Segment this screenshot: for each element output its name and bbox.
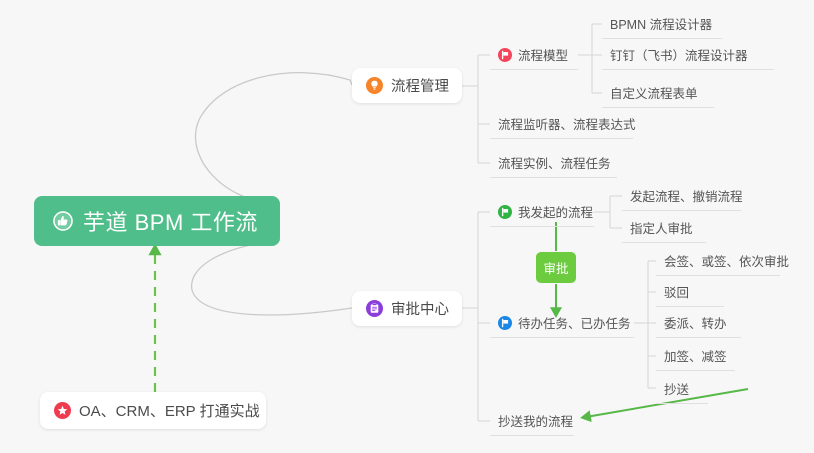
node-add-remove-sign-label: 加签、减签 — [664, 346, 727, 365]
thumbs-up-icon — [52, 210, 74, 232]
node-delegate-transfer-label: 委派、转办 — [664, 313, 727, 332]
clipboard-icon — [366, 300, 383, 317]
node-reject-label: 驳回 — [664, 282, 689, 301]
mindmap-canvas: 芋道 BPM 工作流 流程管理 流程模型 BPMN 流程设计器 钉钉（飞书）流程… — [0, 0, 814, 453]
flag-icon — [498, 205, 512, 219]
node-bpmn-designer-label: BPMN 流程设计器 — [610, 14, 712, 33]
flag-icon — [498, 48, 512, 62]
node-bpmn-designer[interactable]: BPMN 流程设计器 — [602, 9, 722, 39]
node-carbon-copy-label: 抄送 — [664, 379, 689, 398]
node-process-management-label: 流程管理 — [391, 75, 449, 96]
flag-icon — [498, 316, 512, 330]
node-designated-approver[interactable]: 指定人审批 — [622, 213, 706, 243]
node-dingtalk-designer-label: 钉钉（飞书）流程设计器 — [610, 45, 748, 64]
node-integration-note[interactable]: OA、CRM、ERP 打通实战 — [40, 392, 266, 429]
root-node[interactable]: 芋道 BPM 工作流 — [34, 196, 280, 246]
tag-approval-label: 审批 — [543, 258, 568, 277]
connector-root-to-process-management — [195, 73, 352, 205]
node-start-cancel-process[interactable]: 发起流程、撤销流程 — [622, 181, 741, 211]
node-reject[interactable]: 驳回 — [656, 277, 724, 307]
node-process-management[interactable]: 流程管理 — [352, 68, 462, 103]
root-label: 芋道 BPM 工作流 — [83, 205, 258, 237]
node-dingtalk-designer[interactable]: 钉钉（飞书）流程设计器 — [602, 40, 774, 70]
connector-root-to-approval-center — [192, 240, 352, 315]
node-add-remove-sign[interactable]: 加签、减签 — [656, 341, 735, 371]
node-process-model-label: 流程模型 — [518, 45, 568, 64]
node-integration-note-label: OA、CRM、ERP 打通实战 — [79, 400, 260, 421]
node-process-listener-label: 流程监听器、流程表达式 — [498, 114, 636, 133]
node-custom-form[interactable]: 自定义流程表单 — [602, 78, 714, 108]
node-custom-form-label: 自定义流程表单 — [610, 83, 698, 102]
tag-approval[interactable]: 审批 — [536, 252, 576, 283]
node-my-started-process[interactable]: 我发起的流程 — [490, 197, 594, 227]
node-todo-done-tasks-label: 待办任务、已办任务 — [518, 313, 631, 332]
node-process-instance-label: 流程实例、流程任务 — [498, 153, 611, 172]
node-approval-center[interactable]: 审批中心 — [352, 291, 462, 326]
node-process-instance[interactable]: 流程实例、流程任务 — [490, 148, 617, 178]
node-carbon-copy[interactable]: 抄送 — [656, 374, 708, 404]
node-process-model[interactable]: 流程模型 — [490, 40, 578, 70]
node-start-cancel-process-label: 发起流程、撤销流程 — [630, 186, 743, 205]
node-process-listener[interactable]: 流程监听器、流程表达式 — [490, 109, 633, 139]
node-designated-approver-label: 指定人审批 — [630, 218, 693, 237]
node-cc-my-process-label: 抄送我的流程 — [498, 411, 573, 430]
node-cc-my-process[interactable]: 抄送我的流程 — [490, 406, 574, 436]
node-approval-center-label: 审批中心 — [391, 298, 449, 319]
node-countersign[interactable]: 会签、或签、依次审批 — [656, 246, 780, 276]
lightbulb-icon — [366, 77, 383, 94]
node-todo-done-tasks[interactable]: 待办任务、已办任务 — [490, 308, 634, 338]
node-my-started-process-label: 我发起的流程 — [518, 202, 593, 221]
star-icon — [54, 402, 71, 419]
node-countersign-label: 会签、或签、依次审批 — [664, 251, 789, 270]
node-delegate-transfer[interactable]: 委派、转办 — [656, 308, 741, 338]
